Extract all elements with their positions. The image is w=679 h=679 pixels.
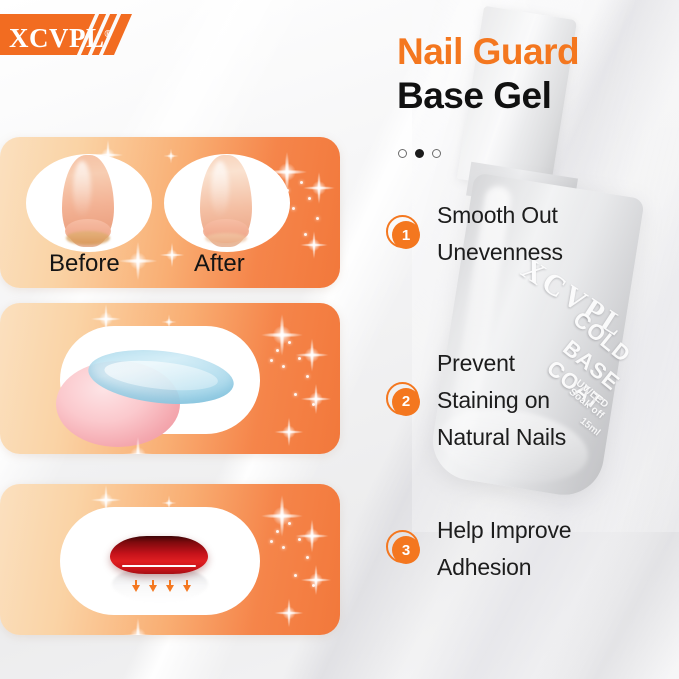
feature-2-text: Prevent Staining on Natural Nails	[437, 345, 566, 456]
badge-number: 2	[392, 388, 420, 416]
pagination-dot-1[interactable]	[398, 149, 407, 158]
title-line-1: Nail Guard	[397, 30, 672, 74]
card-before-after: Before After	[0, 137, 340, 288]
pagination-dots	[398, 149, 441, 158]
feature-item-2: 2 Prevent Staining on Natural Nails	[386, 345, 566, 456]
feature-1-line-2: Unevenness	[437, 234, 563, 271]
feature-2-line-1: Prevent	[437, 345, 566, 382]
feature-1-text: Smooth Out Unevenness	[437, 197, 563, 271]
feature-3-text: Help Improve Adhesion	[437, 512, 571, 586]
page-title: Nail Guard Base Gel	[397, 30, 672, 118]
registered-mark-icon: ®	[105, 29, 113, 40]
feature-item-1: 1 Smooth Out Unevenness	[386, 197, 563, 271]
feature-2-line-3: Natural Nails	[437, 419, 566, 456]
badge-number: 3	[392, 536, 420, 564]
feature-item-3: 3 Help Improve Adhesion	[386, 512, 571, 586]
feature-1-line-1: Smooth Out	[437, 197, 563, 234]
feature-3-badge: 3	[386, 530, 424, 568]
product-infographic: XCVPL® XCVPL COLD BASE COAT UV/LED Soak …	[0, 0, 679, 679]
gel-drop-shape	[110, 536, 208, 574]
title-line-2: Base Gel	[397, 74, 672, 118]
feature-1-badge: 1	[386, 215, 424, 253]
label-before: Before	[49, 250, 120, 278]
brand-logo: XCVPL®	[0, 14, 132, 55]
badge-number: 1	[392, 221, 420, 249]
logo-text-value: XCVPL	[9, 23, 105, 53]
feature-3-line-1: Help Improve	[437, 512, 571, 549]
pagination-dot-3[interactable]	[432, 149, 441, 158]
nail-before-image	[62, 155, 114, 247]
logo-wordmark: XCVPL®	[9, 19, 112, 54]
nail-after-image	[200, 155, 252, 247]
label-after: After	[194, 250, 245, 278]
card-adhesion	[0, 484, 340, 635]
gel-highlight	[122, 565, 196, 568]
feature-2-badge: 2	[386, 382, 424, 420]
feature-2-line-2: Staining on	[437, 382, 566, 419]
feature-3-line-2: Adhesion	[437, 549, 571, 586]
pagination-dot-2[interactable]	[415, 149, 424, 158]
card-protective-layer	[0, 303, 340, 454]
